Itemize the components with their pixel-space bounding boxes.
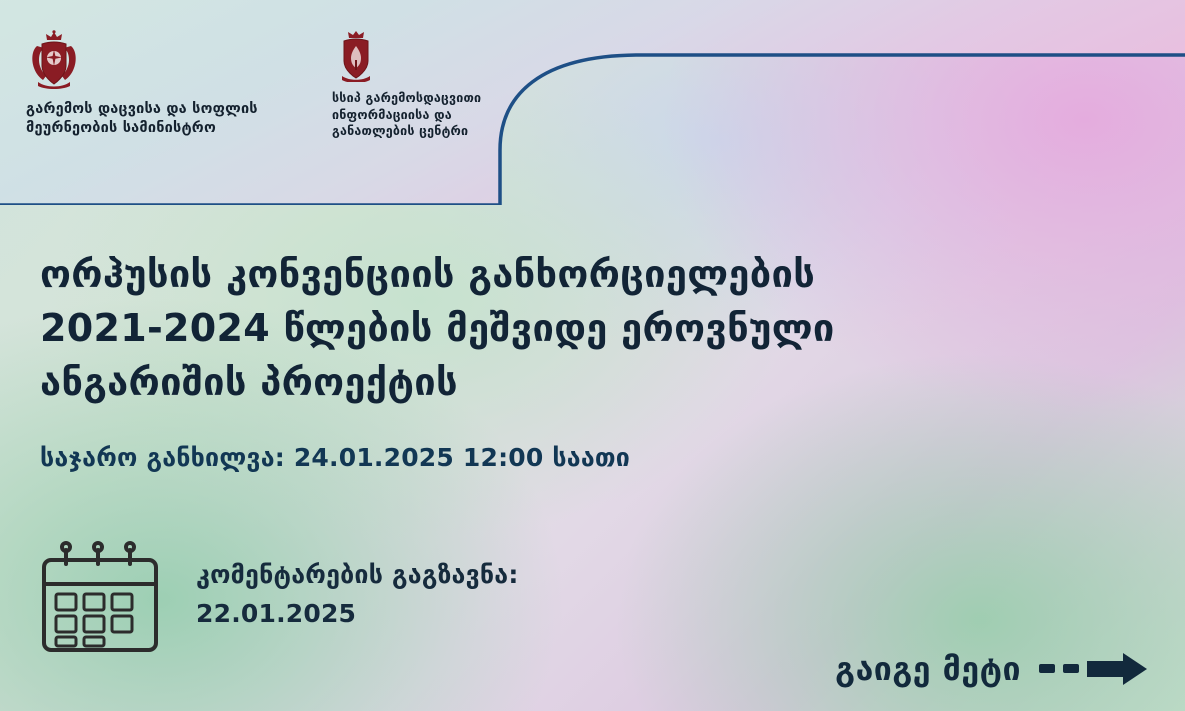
logo-ministry: გარემოს დაცვისა და სოფლის მეურნეობის სამ… — [26, 30, 296, 138]
calendar-icon — [36, 532, 166, 657]
logo-ministry-label: გარემოს დაცვისა და სოფლის მეურნეობის სამ… — [26, 100, 296, 138]
public-hearing-label: საჯარო განხილვა: 24.01.2025 12:00 საათი — [40, 443, 630, 472]
learn-more-label: გაიგე მეტი — [835, 650, 1021, 688]
comment-deadline-date: 22.01.2025 — [196, 595, 519, 634]
logo-center-label: სსიპ გარემოსდაცვითი ინფორმაციისა და განა… — [332, 90, 547, 140]
logo-row: გარემოს დაცვისა და სოფლის მეურნეობის სამ… — [0, 0, 620, 205]
forestry-agency-crest-icon — [334, 30, 378, 82]
poster-canvas: გარემოს დაცვისა და სოფლის მეურნეობის სამ… — [0, 0, 1185, 711]
logo-center: სსიპ გარემოსდაცვითი ინფორმაციისა და განა… — [332, 30, 547, 140]
page-title: ორჰუსის კონვენციის განხორციელების 2021-2… — [40, 248, 1020, 410]
learn-more-cta[interactable]: გაიგე მეტი — [835, 649, 1151, 689]
comment-deadline-text: კომენტარების გაგზავნა: 22.01.2025 — [196, 556, 519, 634]
comment-deadline-label: კომენტარების გაგზავნა: — [196, 556, 519, 595]
comment-deadline-block: კომენტარების გაგზავნა: 22.01.2025 — [36, 532, 519, 657]
arrow-right-icon — [1039, 649, 1151, 689]
georgia-coat-of-arms-icon — [28, 30, 80, 90]
